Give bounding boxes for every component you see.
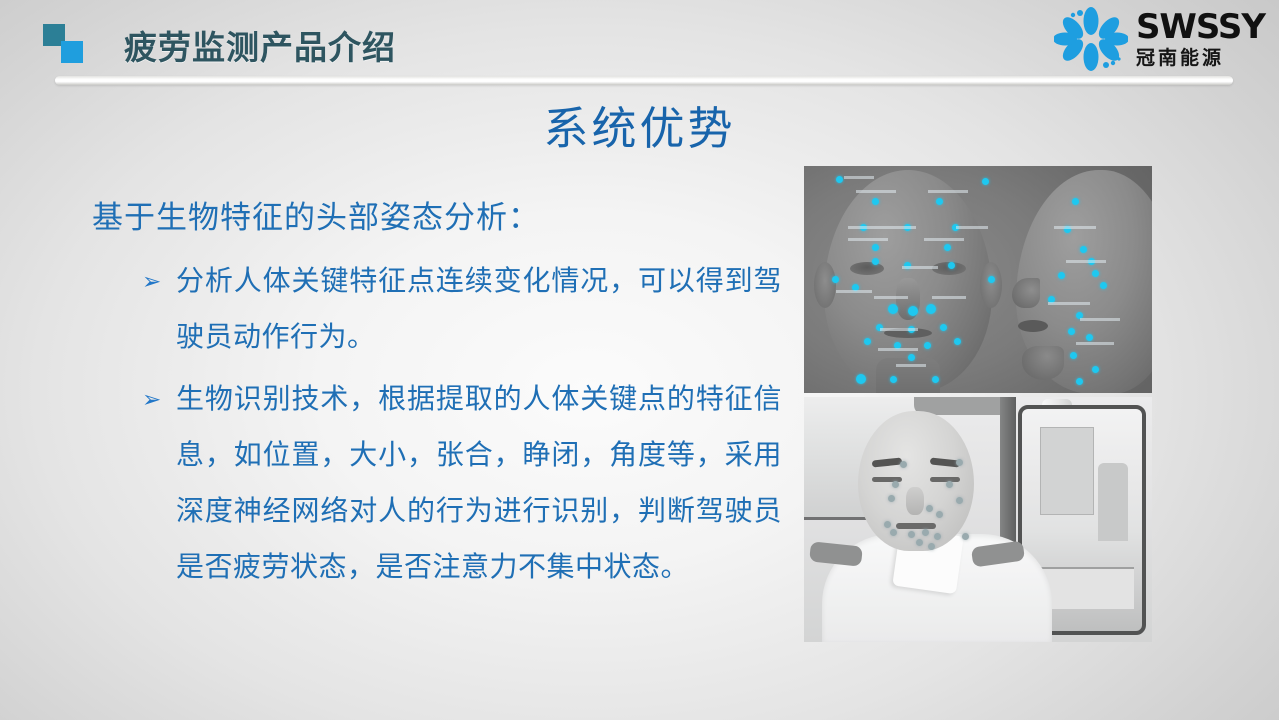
lead-statement: 基于生物特征的头部姿态分析： bbox=[92, 192, 782, 237]
profile-lip bbox=[1018, 320, 1048, 332]
landmark-point bbox=[940, 324, 947, 331]
logo-text-block: SWSSY 冠南能源 bbox=[1136, 10, 1265, 68]
landmark-point bbox=[948, 262, 955, 269]
profile-nose bbox=[1012, 278, 1040, 308]
landmark-label bbox=[1066, 260, 1106, 263]
driver-eye-right-closed bbox=[930, 477, 960, 482]
arrow-bullet-icon: ➢ bbox=[92, 253, 176, 309]
landmark-label bbox=[878, 348, 918, 351]
landmark-point bbox=[900, 461, 907, 468]
slide-canvas: 疲劳监测产品介绍 bbox=[0, 0, 1279, 720]
landmark-label bbox=[902, 266, 938, 269]
landmark-point bbox=[916, 539, 923, 546]
landmark-label bbox=[836, 290, 872, 293]
bullet-text: 分析人体关键特征点连续变化情况，可以得到驾驶员动作行为。 bbox=[176, 253, 782, 365]
landmark-point bbox=[832, 276, 839, 283]
landmark-label bbox=[1048, 302, 1090, 305]
landmark-point bbox=[864, 338, 871, 345]
landmark-label bbox=[928, 190, 968, 193]
landmark-label bbox=[848, 238, 888, 241]
logo-wordmark: SWSSY bbox=[1136, 10, 1265, 44]
landmark-point bbox=[1100, 282, 1107, 289]
landmark-point bbox=[890, 376, 897, 383]
landmark-point bbox=[944, 244, 951, 251]
landmark-point bbox=[946, 481, 953, 488]
landmark-label bbox=[896, 364, 926, 367]
landmark-point bbox=[890, 529, 897, 536]
landmark-label bbox=[1076, 342, 1114, 345]
landmark-label bbox=[880, 328, 918, 331]
landmark-point bbox=[962, 533, 969, 540]
landmark-label bbox=[844, 176, 874, 179]
page-title: 系统优势 bbox=[0, 92, 1279, 157]
landmark-point bbox=[954, 338, 961, 345]
face-scene bbox=[804, 166, 1152, 393]
landmark-point bbox=[936, 511, 943, 518]
landmark-point bbox=[1076, 378, 1083, 385]
bullet-text: 生物识别技术，根据提取的人体关键点的特征信息，如位置，大小，张合，睁闭，角度等，… bbox=[176, 371, 782, 595]
landmark-label bbox=[856, 190, 896, 193]
landmark-point bbox=[926, 304, 936, 314]
landmark-point bbox=[928, 543, 935, 550]
ear-left bbox=[814, 262, 836, 308]
landmark-label bbox=[924, 238, 964, 241]
logo-subtitle: 冠南能源 bbox=[1136, 49, 1265, 68]
vehicle-cab-scene bbox=[804, 397, 1152, 642]
landmark-point bbox=[1058, 272, 1065, 279]
landmark-point bbox=[836, 176, 843, 183]
driver-nose bbox=[906, 487, 924, 515]
header-divider-bar bbox=[55, 76, 1233, 85]
profile-head-model bbox=[1016, 170, 1152, 393]
landmark-label bbox=[932, 296, 966, 299]
flower-emblem-icon bbox=[1054, 6, 1128, 72]
landmark-point bbox=[908, 306, 918, 316]
eye-left bbox=[850, 262, 884, 275]
landmark-point bbox=[988, 276, 995, 283]
landmark-point bbox=[924, 342, 931, 349]
landmark-point bbox=[888, 304, 898, 314]
landmark-point bbox=[932, 376, 939, 383]
landmark-point bbox=[936, 198, 943, 205]
landmark-point bbox=[1072, 198, 1079, 205]
ear-right bbox=[980, 262, 1002, 308]
arrow-bullet-icon: ➢ bbox=[92, 371, 176, 427]
landmark-label bbox=[1054, 226, 1096, 229]
content-body: 基于生物特征的头部姿态分析： ➢ 分析人体关键特征点连续变化情况，可以得到驾驶员… bbox=[92, 192, 782, 601]
landmark-point bbox=[956, 459, 963, 466]
landmark-label bbox=[956, 226, 988, 229]
landmark-point bbox=[856, 374, 866, 384]
landmark-point bbox=[892, 481, 899, 488]
driver-mouth bbox=[896, 523, 936, 529]
landmark-point bbox=[872, 198, 879, 205]
decoration-square-bright bbox=[61, 41, 83, 63]
landmark-label bbox=[882, 226, 916, 229]
driver-head bbox=[858, 411, 974, 551]
landmark-point bbox=[888, 495, 895, 502]
landmark-point bbox=[1092, 270, 1099, 277]
landmark-point bbox=[1068, 328, 1075, 335]
company-logo: SWSSY 冠南能源 bbox=[1054, 3, 1265, 75]
bullet-item: ➢ 生物识别技术，根据提取的人体关键点的特征信息，如位置，大小，张合，睁闭，角度… bbox=[92, 371, 782, 595]
landmark-point bbox=[908, 531, 915, 538]
slide-header: 疲劳监测产品介绍 bbox=[0, 0, 1279, 92]
landmark-point bbox=[1080, 246, 1087, 253]
landmark-point bbox=[956, 497, 963, 504]
face-landmark-3d-heads-image bbox=[804, 166, 1152, 393]
landmark-point bbox=[922, 529, 929, 536]
driver-eyebrow-left bbox=[872, 457, 903, 467]
profile-chin bbox=[1022, 346, 1064, 380]
outside-tank bbox=[1098, 463, 1128, 541]
outside-building bbox=[1040, 427, 1094, 515]
landmark-point bbox=[1092, 366, 1099, 373]
landmark-label bbox=[848, 226, 882, 229]
landmark-point bbox=[908, 354, 915, 361]
header-decoration-squares bbox=[43, 24, 99, 66]
landmark-point bbox=[934, 533, 941, 540]
landmark-point bbox=[1070, 352, 1077, 359]
driver-fatigue-detection-image bbox=[804, 397, 1152, 642]
landmark-label bbox=[874, 296, 908, 299]
driver-epaulette-left bbox=[809, 541, 863, 566]
landmark-label bbox=[1080, 318, 1120, 321]
landmark-point bbox=[884, 521, 891, 528]
landmark-point bbox=[1086, 334, 1093, 341]
landmark-point bbox=[982, 178, 989, 185]
landmark-point bbox=[872, 258, 879, 265]
landmark-point bbox=[926, 505, 933, 512]
landmark-point bbox=[872, 244, 879, 251]
header-title: 疲劳监测产品介绍 bbox=[124, 21, 396, 69]
bullet-item: ➢ 分析人体关键特征点连续变化情况，可以得到驾驶员动作行为。 bbox=[92, 253, 782, 365]
